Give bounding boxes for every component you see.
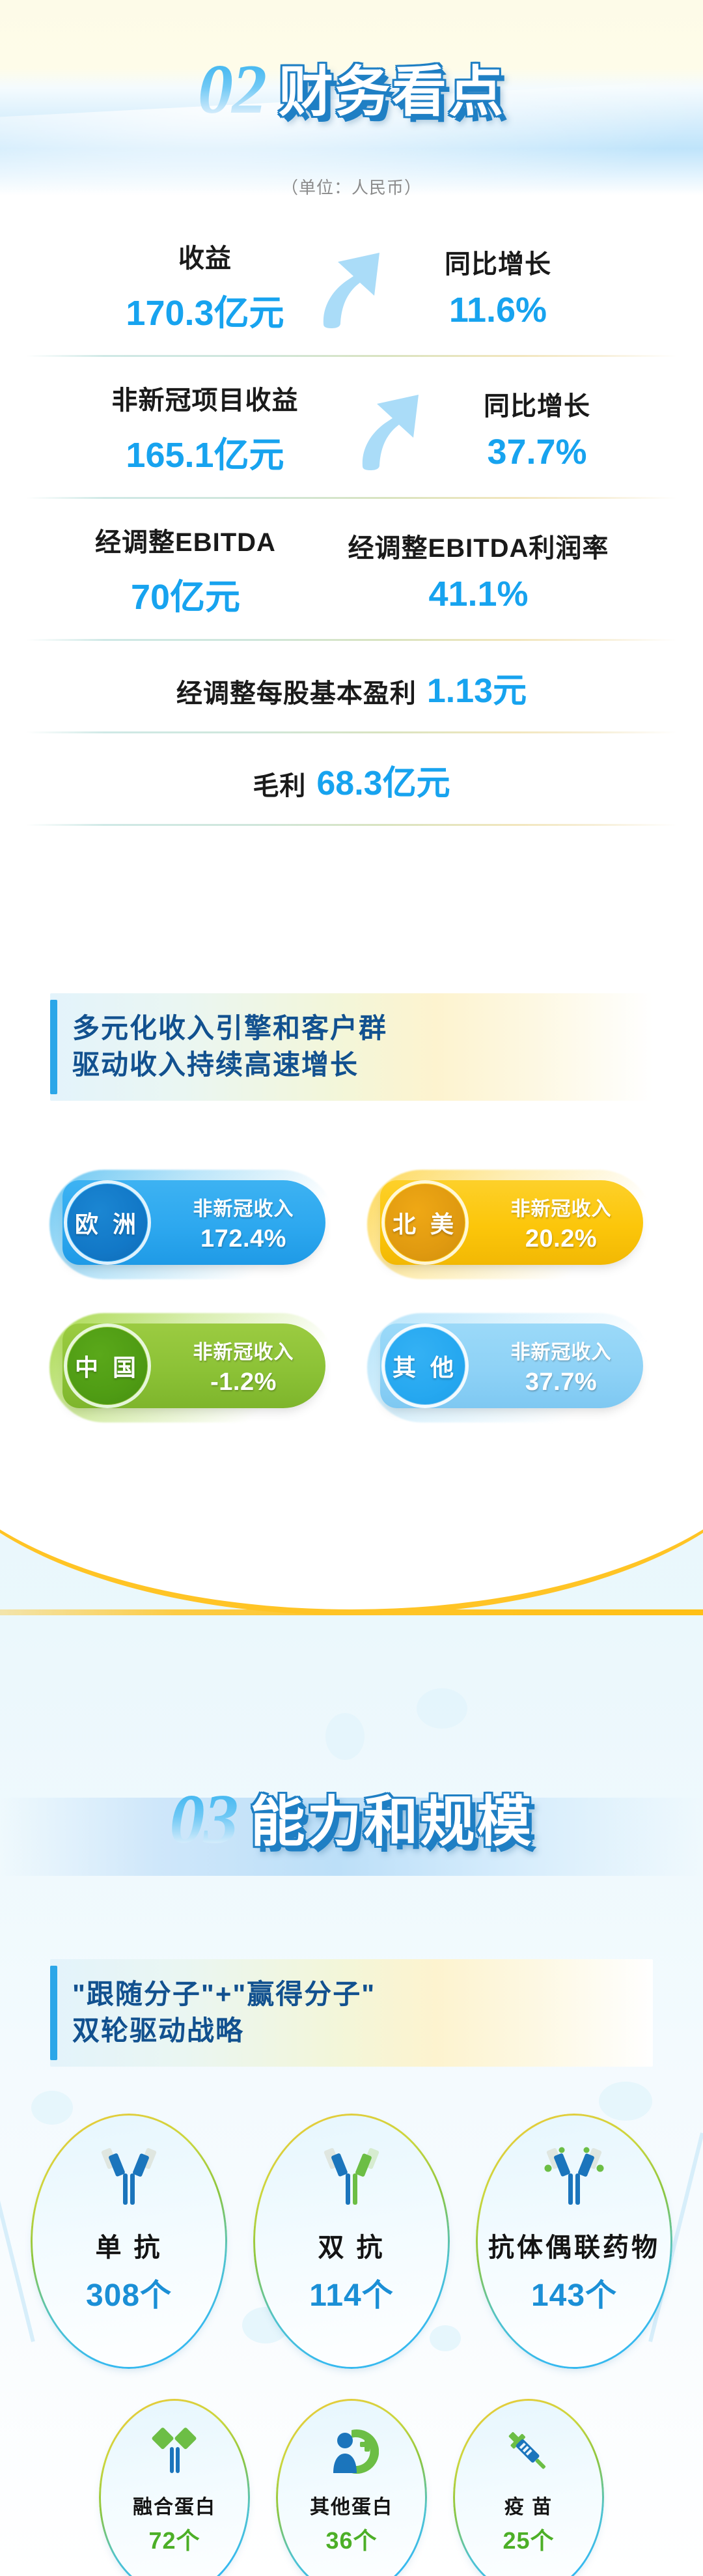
metric-adjusted-ebitda-margin: 经调整EBITDA利润率 41.1%: [342, 527, 615, 614]
capability-label: 融合蛋白: [133, 2491, 216, 2519]
pill-cap: 中 国: [68, 1327, 147, 1404]
revenue-engine-heading: 多元化收入引擎和客户群 驱动收入持续高速增长: [50, 993, 653, 1101]
capability-value: 114个: [309, 2269, 393, 2315]
metric-row-non-covid-revenue: 非新冠项目收益 165.1亿元 同比增长 37.7%: [0, 357, 703, 497]
metric-value: 68.3亿元: [316, 756, 450, 804]
pill-metric-label: 非新冠收入: [511, 1336, 612, 1365]
metric-non-covid-revenue: 非新冠项目收益 165.1亿元: [68, 379, 342, 477]
capability-badges-row-1: 单 抗 308个 双 抗 114个: [0, 2114, 703, 2369]
pill-metric: 非新冠收入 37.7%: [489, 1323, 633, 1408]
metric-label: 非新冠项目收益: [68, 379, 342, 417]
strategy-heading: "跟随分子"+"赢得分子" 双轮驱动战略: [50, 1959, 653, 2067]
metric-label: 经调整EBITDA: [88, 521, 283, 559]
pill-metric-value: 37.7%: [525, 1368, 597, 1396]
section-03-banner: 03 能力和规模: [0, 1768, 703, 1904]
metric-row-adjusted-eps: 经调整每股基本盈利 1.13元: [0, 641, 703, 731]
region-pill-europe[interactable]: 欧 洲 非新冠收入 172.4%: [46, 1166, 340, 1283]
region-revenue-pills: 欧 洲 非新冠收入 172.4% 北 美 非新冠收入: [26, 1166, 677, 1426]
pill-metric: 非新冠收入 -1.2%: [172, 1323, 315, 1408]
growth-arrow-slot: [342, 387, 439, 470]
pill-metric-label: 非新冠收入: [193, 1193, 294, 1221]
region-pill-north-america[interactable]: 北 美 非新冠收入 20.2%: [363, 1166, 657, 1283]
metric-value: 165.1亿元: [68, 426, 342, 477]
pill-body: 北 美 非新冠收入 20.2%: [380, 1180, 643, 1265]
antibody-drug-conjugate-icon: [540, 2146, 608, 2212]
metric-non-covid-growth: 同比增长 37.7%: [439, 385, 635, 472]
section-02-title-row: 02 财务看点: [0, 57, 703, 122]
heading-accent-bar: [50, 1000, 57, 1094]
section-02-number: 02: [198, 57, 269, 122]
metric-value: 170.3亿元: [107, 284, 303, 335]
pill-cap: 北 美: [385, 1184, 465, 1261]
other-protein-icon: [324, 2425, 379, 2480]
currency-unit-note: （单位：人民币）: [0, 175, 703, 195]
metric-value: 41.1%: [342, 574, 615, 614]
metric-divider: [26, 824, 677, 826]
section-03-region: 03 能力和规模 "跟随分子"+"赢得分子" 双轮驱动战略: [0, 1518, 703, 2576]
decorative-bubble: [325, 1713, 365, 1760]
capability-badge-adc[interactable]: 抗体偶联药物 143个: [476, 2114, 672, 2369]
metric-row-revenue: 收益 170.3亿元 同比增长 11.6%: [0, 215, 703, 355]
capability-badge-mab[interactable]: 单 抗 308个: [31, 2114, 227, 2369]
metric-row-gross-profit: 毛利 68.3亿元: [0, 733, 703, 824]
capability-badge-fusion-protein[interactable]: 融合蛋白 72个: [99, 2399, 250, 2576]
capability-value: 143个: [531, 2269, 617, 2315]
metric-adjusted-ebitda: 经调整EBITDA 70亿元: [88, 521, 283, 619]
pill-body: 中 国 非新冠收入 -1.2%: [62, 1323, 325, 1408]
region-name: 北 美: [393, 1206, 458, 1239]
section-03-title: 能力和规模: [250, 1794, 533, 1849]
section-03-number: 03: [169, 1787, 241, 1852]
metric-revenue-growth: 同比增长 11.6%: [400, 243, 596, 330]
capability-badges-row-2: 融合蛋白 72个 其他蛋白 36个: [0, 2399, 703, 2576]
region-name: 中 国: [75, 1349, 140, 1383]
up-right-arrow-icon: [351, 387, 430, 470]
metric-label: 同比增长: [400, 243, 596, 281]
fusion-protein-icon: [148, 2425, 200, 2480]
region-name: 其 他: [393, 1349, 458, 1383]
pill-metric-value: 20.2%: [525, 1225, 597, 1253]
region-pill-china[interactable]: 中 国 非新冠收入 -1.2%: [46, 1309, 340, 1426]
heading-accent-bar: [50, 1966, 57, 2060]
metric-row-ebitda: 经调整EBITDA 70亿元 经调整EBITDA利润率 41.1%: [0, 499, 703, 639]
pill-metric-label: 非新冠收入: [193, 1336, 294, 1365]
capability-badge-bispecific[interactable]: 双 抗 114个: [253, 2114, 450, 2369]
metric-label: 毛利: [253, 765, 306, 802]
section-02-banner: 02 财务看点 （单位：人民币）: [0, 0, 703, 195]
metric-value: 70亿元: [88, 568, 283, 619]
metric-value: 1.13元: [427, 663, 527, 712]
pill-metric-value: 172.4%: [200, 1225, 286, 1253]
capability-label: 双 抗: [318, 2226, 385, 2264]
antibody-bispecific-icon: [322, 2146, 381, 2212]
infographic-page: 02 财务看点 （单位：人民币） 收益 170.3亿元 同比增长 11.6%: [0, 0, 703, 2576]
section-03-title-row: 03 能力和规模: [0, 1787, 703, 1852]
region-name: 欧 洲: [75, 1206, 140, 1239]
antibody-blue-icon: [99, 2146, 159, 2212]
pill-cap: 其 他: [385, 1327, 465, 1404]
up-right-arrow-icon: [312, 245, 391, 328]
decorative-bubble: [417, 1688, 467, 1729]
heading-line-1: 多元化收入引擎和客户群: [72, 1010, 653, 1047]
capability-label: 单 抗: [95, 2226, 162, 2264]
metric-value: 11.6%: [400, 290, 596, 330]
pill-cap: 欧 洲: [68, 1184, 147, 1261]
heading-line-1: "跟随分子"+"赢得分子": [72, 1976, 653, 2013]
metric-label: 同比增长: [439, 385, 635, 423]
metric-revenue: 收益 170.3亿元: [107, 237, 303, 335]
pill-metric-label: 非新冠收入: [511, 1193, 612, 1221]
capability-badge-vaccine[interactable]: 疫 苗 25个: [453, 2399, 604, 2576]
pill-metric-value: -1.2%: [210, 1368, 277, 1396]
growth-arrow-slot: [303, 245, 400, 328]
capability-value: 25个: [503, 2522, 554, 2556]
metric-label: 经调整每股基本盈利: [176, 672, 417, 710]
vaccine-syringe-icon: [503, 2425, 555, 2480]
region-pill-others[interactable]: 其 他 非新冠收入 37.7%: [363, 1309, 657, 1426]
pill-metric: 非新冠收入 172.4%: [172, 1180, 315, 1265]
metric-label: 收益: [107, 237, 303, 275]
heading-line-2: 双轮驱动战略: [72, 2013, 653, 2049]
heading-line-2: 驱动收入持续高速增长: [72, 1047, 653, 1083]
capability-label: 抗体偶联药物: [488, 2226, 660, 2264]
pill-body: 其 他 非新冠收入 37.7%: [380, 1323, 643, 1408]
capability-value: 36个: [325, 2522, 377, 2556]
financial-metrics-list: 收益 170.3亿元 同比增长 11.6% 非新冠项目收益: [0, 215, 703, 826]
metric-value: 37.7%: [439, 432, 635, 472]
pill-metric: 非新冠收入 20.2%: [489, 1180, 633, 1265]
pill-body: 欧 洲 非新冠收入 172.4%: [62, 1180, 325, 1265]
capability-label: 疫 苗: [504, 2491, 553, 2519]
capability-badge-other-protein[interactable]: 其他蛋白 36个: [276, 2399, 427, 2576]
capability-label: 其他蛋白: [310, 2491, 393, 2519]
section-02-title: 财务看点: [279, 64, 505, 119]
capability-value: 72个: [148, 2522, 200, 2556]
capability-value: 308个: [86, 2269, 172, 2315]
metric-label: 经调整EBITDA利润率: [342, 527, 615, 565]
